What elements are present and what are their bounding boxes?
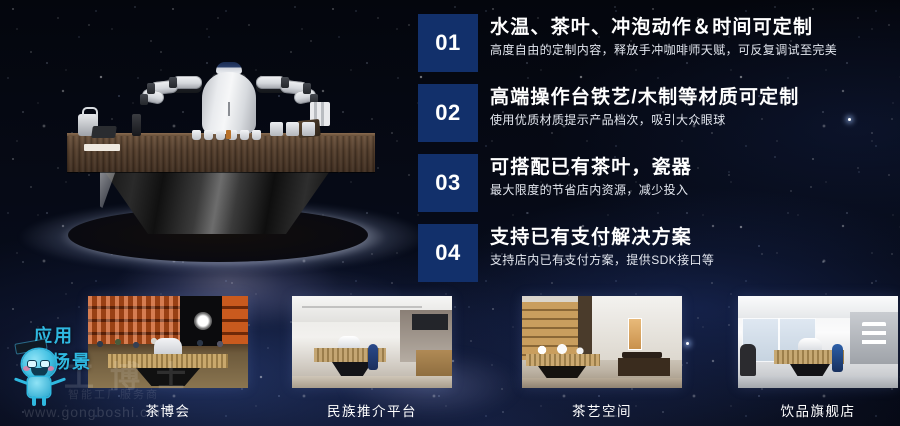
feature-number-badge: 02	[418, 84, 478, 142]
mascot-body	[28, 377, 50, 397]
feature-subtitle: 高度自由的定制内容，释放手冲咖啡师天赋，可反复调试至完美	[490, 41, 888, 59]
tea-expo-thumbnail[interactable]	[88, 296, 248, 388]
tea-art-space-thumbnail[interactable]	[522, 296, 682, 388]
pedestal-shape	[136, 368, 200, 386]
floor	[522, 378, 682, 388]
feature-text-block: 高端操作台铁艺/木制等材质可定制 使用优质材质提示产品档次，吸引大众眼球	[490, 85, 888, 129]
scene-item-tea-art-space[interactable]: 茶艺空间	[522, 296, 682, 420]
scene-caption: 民族推介平台	[292, 400, 452, 420]
feature-text-block: 可搭配已有茶叶，瓷器 最大限度的节省店内资源，减少投入	[490, 155, 888, 199]
feature-number: 01	[435, 30, 460, 56]
grinder-icon	[132, 114, 141, 136]
application-scenario-logo: 应用 场景	[8, 322, 96, 404]
robot-torso	[202, 72, 256, 134]
cup-icon	[192, 130, 201, 140]
tea-cup-filled-icon	[226, 130, 231, 139]
ethnic-promotion-platform-thumbnail[interactable]	[292, 296, 452, 388]
right-equipment-group	[270, 102, 340, 136]
cup-icon	[216, 130, 225, 140]
robot-joint	[169, 77, 177, 88]
scene-item-flagship-store[interactable]: 饮品旗舰店	[738, 296, 898, 420]
robot-mascot-icon	[14, 342, 74, 404]
feature-number: 03	[435, 170, 460, 196]
robot-joint	[281, 77, 289, 88]
hanging-scroll-icon	[628, 318, 642, 350]
scene-caption: 茶艺空间	[522, 400, 682, 420]
feature-number-badge: 03	[418, 154, 478, 212]
left-equipment-group	[78, 108, 118, 136]
feature-title: 水温、茶叶、冲泡动作＆时间可定制	[490, 15, 888, 41]
display-shelf	[862, 322, 886, 348]
feature-text-block: 支持已有支付解决方案 支持店内已有支付方案，提供SDK接口等	[490, 225, 888, 269]
feature-item-03[interactable]: 03 可搭配已有茶叶，瓷器 最大限度的节省店内资源，减少投入	[418, 154, 888, 212]
counter-label-plate	[84, 144, 120, 151]
mascot-eye-right	[40, 360, 50, 368]
seated-person	[740, 344, 756, 376]
feature-text-block: 水温、茶叶、冲泡动作＆时间可定制 高度自由的定制内容，释放手冲咖啡师天赋，可反复…	[490, 15, 888, 59]
canister-icon	[286, 122, 299, 136]
scene-caption: 茶博会	[88, 400, 248, 420]
feature-subtitle: 最大限度的节省店内资源，减少投入	[490, 181, 888, 199]
robot-arm-left	[142, 76, 204, 102]
mascot-mouth	[31, 368, 48, 377]
application-scenes-row: 茶博会 民族推介平台	[0, 296, 900, 426]
canister-icon	[302, 122, 315, 136]
floor	[738, 376, 898, 388]
service-robot-icon	[368, 344, 378, 370]
service-robot-icon	[832, 344, 843, 372]
hero-robot-illustration	[60, 58, 390, 288]
equipment-box	[91, 126, 117, 138]
feature-subtitle: 使用优质材质提示产品档次，吸引大众眼球	[490, 111, 888, 129]
cup-row	[192, 130, 270, 140]
counter-shape	[108, 354, 228, 368]
feature-subtitle: 支持店内已有支付方案，提供SDK接口等	[490, 251, 888, 269]
feature-number: 02	[435, 100, 460, 126]
feature-item-01[interactable]: 01 水温、茶叶、冲泡动作＆时间可定制 高度自由的定制内容，释放手冲咖啡师天赋，…	[418, 14, 888, 72]
wooden-counter	[67, 136, 375, 172]
cup-icon	[204, 130, 213, 140]
mascot-eye-left	[27, 360, 37, 368]
feature-number-badge: 04	[418, 224, 478, 282]
feature-number: 04	[435, 240, 460, 266]
feature-number-badge: 01	[418, 14, 478, 72]
robot-arm-right	[254, 76, 316, 102]
beverage-flagship-store-thumbnail[interactable]	[738, 296, 898, 388]
mascot-arm-right	[50, 377, 66, 385]
scene-item-ethnic-platform[interactable]: 民族推介平台	[292, 296, 452, 420]
scene-caption: 饮品旗舰店	[738, 400, 898, 420]
mascot-leg-left	[32, 396, 36, 406]
counter-shape	[526, 354, 600, 366]
robot-joint	[140, 94, 148, 105]
canister-row	[270, 122, 315, 136]
tv-screen-icon	[412, 314, 448, 330]
robot-joint	[147, 83, 155, 94]
mascot-leg-right	[42, 396, 46, 406]
cup-icon	[252, 130, 261, 140]
mascot-head	[22, 349, 56, 379]
scene-item-tea-expo[interactable]: 茶博会	[88, 296, 248, 420]
feature-item-02[interactable]: 02 高端操作台铁艺/木制等材质可定制 使用优质材质提示产品档次，吸引大众眼球	[418, 84, 888, 142]
robot-joint	[303, 83, 311, 94]
low-tea-table	[618, 358, 670, 376]
feature-title: 支持已有支付解决方案	[490, 225, 888, 251]
feature-title: 高端操作台铁艺/木制等材质可定制	[490, 85, 888, 111]
slide-root: 01 水温、茶叶、冲泡动作＆时间可定制 高度自由的定制内容，释放手冲咖啡师天赋，…	[0, 0, 900, 426]
canister-icon	[270, 122, 283, 136]
feature-title: 可搭配已有茶叶，瓷器	[490, 155, 888, 181]
floor	[292, 376, 452, 388]
feature-item-04[interactable]: 04 支持已有支付解决方案 支持店内已有支付方案，提供SDK接口等	[418, 224, 888, 282]
cup-icon	[240, 130, 249, 140]
feature-list: 01 水温、茶叶、冲泡动作＆时间可定制 高度自由的定制内容，释放手冲咖啡师天赋，…	[418, 14, 888, 294]
